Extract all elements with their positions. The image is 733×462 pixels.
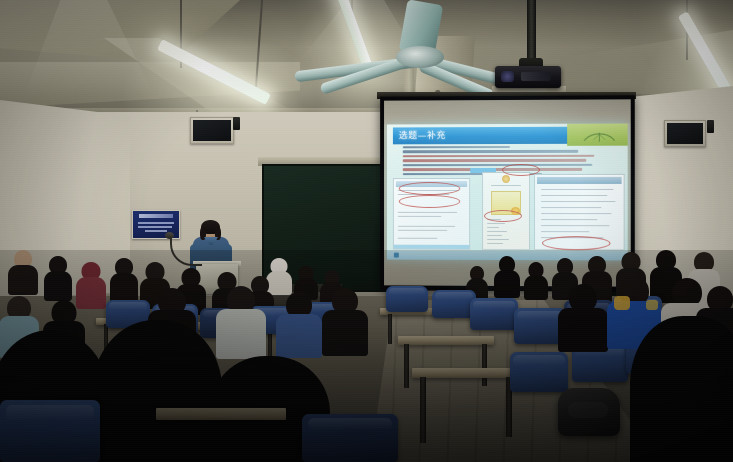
annotation-ellipse [399, 195, 460, 208]
wall-switch-right[interactable] [707, 120, 714, 133]
screen-blank-top-band [384, 99, 631, 124]
panel-screen [667, 123, 703, 144]
wall-control-panel-left[interactable] [190, 117, 234, 144]
plaque-text-line [138, 226, 172, 228]
desk [156, 408, 286, 420]
presentation-slide: 选题—补充 [387, 124, 628, 261]
lecture-chair[interactable] [510, 352, 568, 392]
foreground-student-silhouette [92, 320, 222, 462]
plaque-text-line [145, 230, 167, 232]
microphone-icon [165, 232, 174, 239]
student [278, 292, 320, 352]
annotation-ellipse [399, 182, 460, 195]
student [324, 288, 366, 350]
projector-body [495, 66, 561, 88]
student [560, 284, 606, 346]
wall-control-panel-right[interactable] [664, 120, 706, 147]
annotation-ellipse [542, 236, 610, 250]
student [218, 286, 264, 352]
student [8, 250, 38, 292]
student [110, 258, 138, 300]
lecture-chair[interactable] [386, 286, 428, 312]
ceiling-beam-left [0, 0, 240, 62]
lecture-chair[interactable] [0, 400, 100, 462]
student [524, 262, 548, 298]
desk [398, 336, 494, 345]
slide-footer-icon [394, 253, 399, 258]
classroom-photo: 选题—补充 [0, 0, 733, 462]
lecture-chair[interactable] [302, 414, 398, 462]
student-scarf [614, 296, 630, 310]
plaque-title-line [139, 214, 173, 218]
wall-switch-left[interactable] [233, 117, 240, 130]
plaque-text-line [138, 222, 174, 224]
projector-mount-pole [527, 0, 536, 62]
foreground-student-silhouette [630, 316, 733, 462]
panel-screen [193, 120, 231, 141]
annotation-ellipse [484, 210, 522, 222]
slide-header: 选题—补充 [387, 127, 628, 145]
student [494, 256, 520, 296]
user-avatar-icon [502, 175, 510, 183]
student [44, 256, 72, 298]
slide-title: 选题—补充 [399, 129, 446, 143]
lecture-chair[interactable] [470, 298, 518, 330]
backpack[interactable] [558, 388, 620, 436]
fan-motor [396, 46, 444, 68]
student-scarf [646, 300, 658, 310]
tree-icon [582, 128, 616, 144]
